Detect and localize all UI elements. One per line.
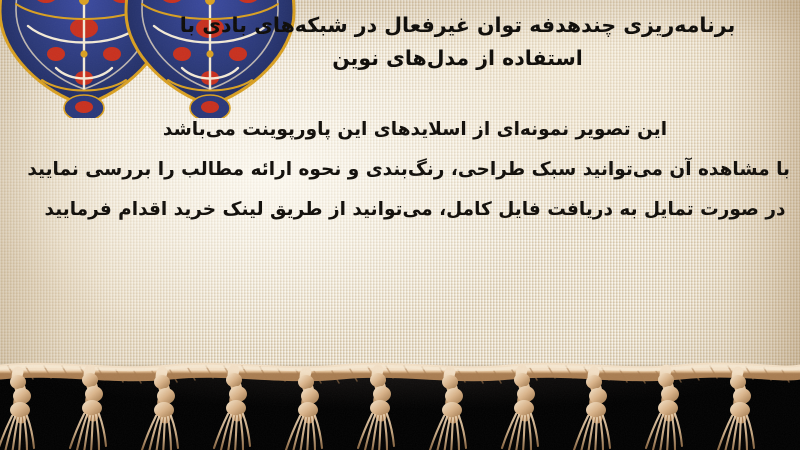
slide-title: برنامه‌ریزی چندهدفه توان غیرفعال در شبکه… xyxy=(130,9,785,74)
slide-canvas: برنامه‌ریزی چندهدفه توان غیرفعال در شبکه… xyxy=(0,0,800,450)
body-line-3: در صورت تمایل به دریافت فایل کامل، می‌تو… xyxy=(40,190,790,230)
body-line-1: این تصویر نمونه‌ای از اسلایدهای این پاور… xyxy=(40,110,790,150)
title-line-1: برنامه‌ریزی چندهدفه توان غیرفعال در شبکه… xyxy=(130,9,785,41)
bottom-black-band xyxy=(0,372,800,450)
title-line-2: استفاده از مدل‌های نوین xyxy=(130,42,785,74)
slide-body: این تصویر نمونه‌ای از اسلایدهای این پاور… xyxy=(40,110,790,230)
body-line-2: با مشاهده آن می‌توانید سبک طراحی، رنگ‌بن… xyxy=(40,150,790,190)
